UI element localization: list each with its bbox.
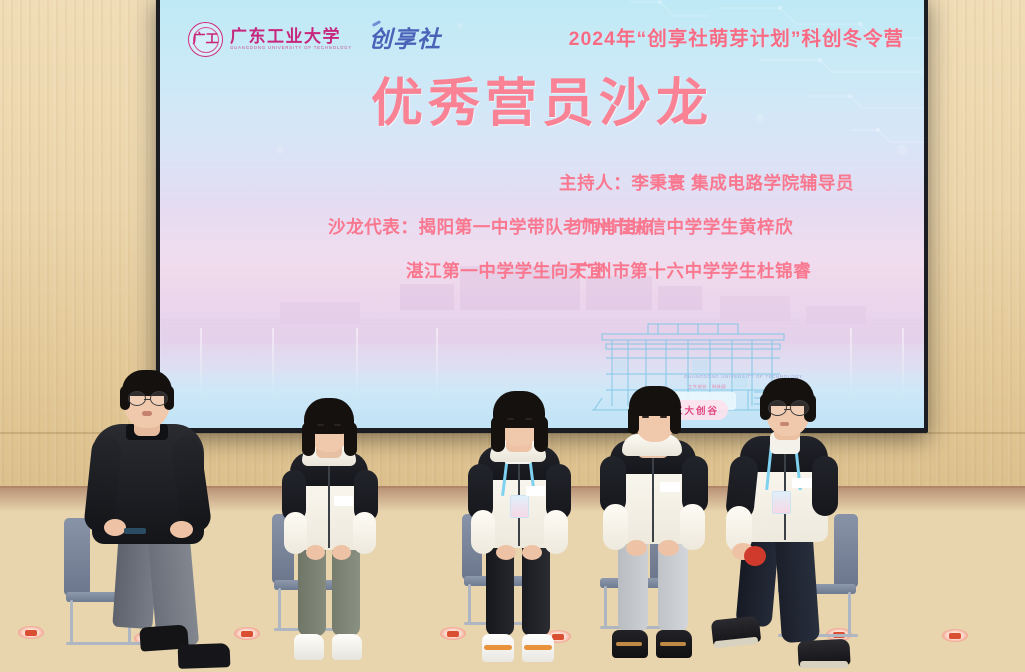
jacket-label (526, 486, 545, 496)
gdut-logo: 广工 广东工业大学 GUANGDONG UNIVERSITY OF TECHNO… (188, 22, 352, 57)
jacket-label (792, 478, 812, 488)
slide-logo-group: 广工 广东工业大学 GUANGDONG UNIVERSITY OF TECHNO… (188, 22, 441, 57)
screenshot-root: 广工 广东工业大学 GUANGDONG UNIVERSITY OF TECHNO… (0, 0, 1025, 672)
event-kicker: 2024年“创享社萌芽计划”科创冬令营 (569, 22, 904, 51)
roster-row: 主持人：李秉寰 集成电路学院辅导员 (160, 170, 924, 195)
gdut-name-cn: 广东工业大学 (230, 28, 352, 45)
slide-headline: 优秀营员沙龙 (160, 78, 924, 130)
roster-rep-1: 沙龙代表：揭阳第一中学带队老师肖佳栋 (246, 214, 576, 239)
light-ray (436, 328, 438, 398)
roster-row: 沙龙代表：揭阳第一中学带队老师肖佳栋 广州市执信中学学生黄梓欣 (160, 214, 924, 239)
roster-rep-3: 湛江第一中学学生向天宜 (246, 258, 576, 283)
person-panelist-1 (276, 392, 396, 672)
roster-host: 主持人：李秉寰 集成电路学院辅导员 (389, 170, 719, 195)
led-screen: 广工 广东工业大学 GUANGDONG UNIVERSITY OF TECHNO… (160, 0, 924, 428)
light-ray (902, 328, 904, 398)
name-badge (772, 491, 791, 514)
light-ray (272, 328, 274, 398)
name-badge (660, 482, 680, 492)
red-object (744, 546, 766, 566)
gdut-seal-glyph: 广工 (192, 33, 218, 46)
roster-list: 主持人：李秉寰 集成电路学院辅导员 沙龙代表：揭阳第一中学带队老师肖佳栋 广州市… (160, 170, 924, 302)
person-panelist-4 (700, 372, 870, 672)
person-host (60, 372, 250, 672)
gdut-name-en: GUANGDONG UNIVERSITY OF TECHNOLOGY (230, 46, 352, 50)
person-panelist-2 (464, 382, 586, 672)
name-badge (510, 495, 529, 518)
glasses-icon (790, 400, 809, 416)
gdut-seal-icon: 广工 (188, 22, 223, 57)
floor-marker (18, 626, 44, 639)
glasses-icon (150, 391, 168, 406)
phone-icon (124, 528, 146, 534)
roster-rep-2: 广州市执信中学学生黄梓欣 (576, 214, 838, 239)
roster-row: 湛江第一中学学生向天宜 广州市第十六中学学生杜锦睿 (160, 258, 924, 283)
roster-rep-4: 广州市第十六中学学生杜锦睿 (576, 258, 838, 283)
chuangxiangshe-logo: 创享社 (369, 28, 441, 51)
name-badge (334, 496, 353, 506)
light-ray (356, 328, 358, 398)
floor-marker (942, 629, 968, 642)
